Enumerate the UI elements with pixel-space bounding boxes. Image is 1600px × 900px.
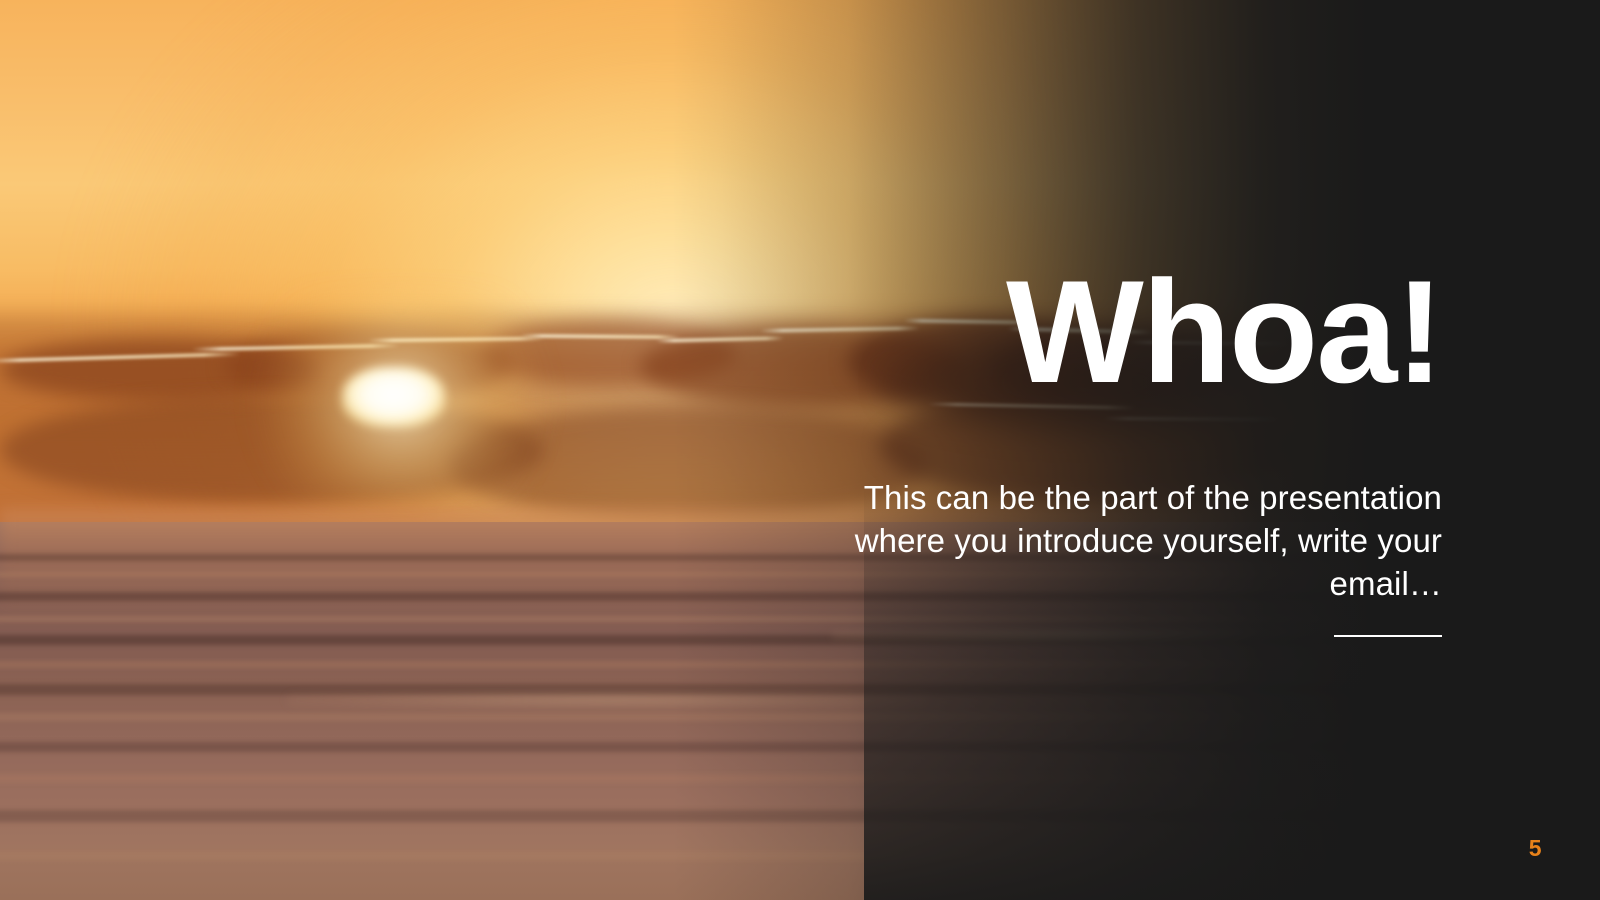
page-number: 5 [1529,835,1542,862]
divider-rule [1334,635,1442,637]
slide-text-block: Whoa! This can be the part of the presen… [802,262,1442,637]
presentation-slide: Whoa! This can be the part of the presen… [0,0,1600,900]
slide-body-text: This can be the part of the presentation… [802,476,1442,605]
slide-title: Whoa! [802,262,1442,402]
